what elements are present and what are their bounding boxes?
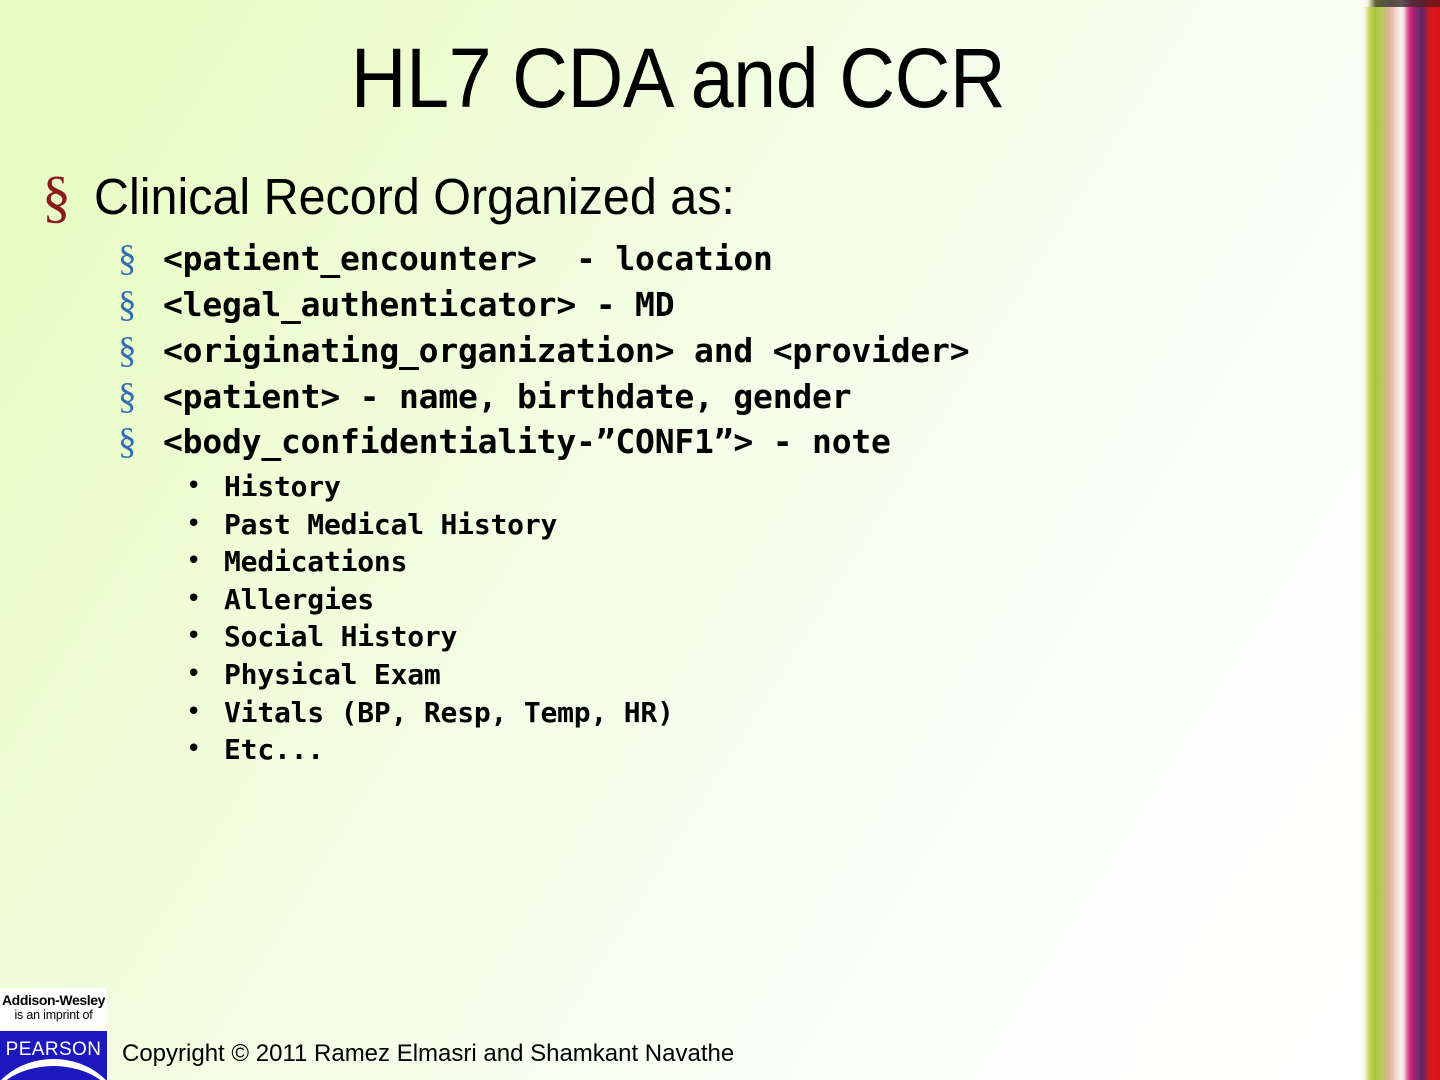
dot-bullet-icon: •: [186, 469, 224, 504]
section-bullet-icon: §: [118, 423, 163, 462]
bullet-level2-originating-organization: § <originating_organization> and <provid…: [0, 332, 1356, 371]
bullet-level2-label: <patient> - name, birthdate, gender: [163, 378, 851, 417]
section-bullet-icon: §: [118, 332, 163, 371]
slide-canvas: HL7 CDA and CCR § Clinical Record Organi…: [0, 0, 1440, 1080]
dot-bullet-icon: •: [186, 544, 224, 579]
section-bullet-icon: §: [118, 286, 163, 325]
copyright-notice: Copyright © 2011 Ramez Elmasri and Shamk…: [122, 1040, 734, 1069]
bullet-level3-label: Allergies: [224, 582, 374, 618]
imprint-tagline-label: is an imprint of: [0, 1008, 107, 1023]
bullet-level3-medications: • Medications: [0, 544, 1356, 580]
dot-bullet-icon: •: [186, 732, 224, 767]
bullet-level3-history: • History: [0, 469, 1356, 505]
bullet-level2-label: <patient_encounter> - location: [163, 240, 773, 279]
imprint-text: Addison-Wesley is an imprint of: [0, 992, 107, 1023]
dot-bullet-icon: •: [186, 582, 224, 617]
publisher-logo: Addison-Wesley is an imprint of PEARSON: [0, 988, 107, 1080]
stripe-texture: [1362, 0, 1440, 1080]
bullet-level2-legal-authenticator: § <legal_authenticator> - MD: [0, 286, 1356, 325]
bullet-level1-label: Clinical Record Organized as:: [94, 168, 735, 225]
bullet-level2-patient: § <patient> - name, birthdate, gender: [0, 378, 1356, 417]
section-bullet-icon: §: [118, 378, 163, 417]
pearson-swoosh-icon: [0, 1059, 107, 1080]
bullet-level3-label: History: [224, 469, 341, 505]
bullet-level3-label: Physical Exam: [224, 657, 441, 693]
bullet-level3-allergies: • Allergies: [0, 582, 1356, 618]
dot-bullet-icon: •: [186, 507, 224, 542]
slide-body: § Clinical Record Organized as: § <patie…: [0, 168, 1356, 770]
bullet-level2-body-confidentiality: § <body_confidentiality-”CONF1”> - note: [0, 423, 1356, 462]
pearson-wordmark: PEARSON: [0, 1039, 107, 1061]
bullet-level3-physical-exam: • Physical Exam: [0, 657, 1356, 693]
slide-title: HL7 CDA and CCR: [54, 36, 1302, 122]
bullet-level3-past-medical-history: • Past Medical History: [0, 507, 1356, 543]
dot-bullet-icon: •: [186, 619, 224, 654]
pearson-logo: PEARSON: [0, 1031, 107, 1080]
bullet-level3-etc: • Etc...: [0, 732, 1356, 768]
section-bullet-icon: §: [118, 240, 163, 279]
bullet-level2-label: <legal_authenticator> - MD: [163, 286, 674, 325]
bullet-level2-label: <body_confidentiality-”CONF1”> - note: [163, 423, 891, 462]
bullet-level3-label: Etc...: [224, 732, 324, 768]
section-bullet-icon: §: [42, 168, 94, 226]
bullet-level3-label: Vitals (BP, Resp, Temp, HR): [224, 695, 674, 731]
bullet-level2-patient-encounter: § <patient_encounter> - location: [0, 240, 1356, 279]
decorative-edge-stripe: [1362, 0, 1440, 1080]
bullet-level3-vitals: • Vitals (BP, Resp, Temp, HR): [0, 695, 1356, 731]
bullet-level3-label: Past Medical History: [224, 507, 557, 543]
slide-footer: Addison-Wesley is an imprint of PEARSON …: [0, 988, 1356, 1080]
dot-bullet-icon: •: [186, 695, 224, 730]
bullet-level3-label: Social History: [224, 619, 457, 655]
imprint-brand-label: Addison-Wesley: [0, 992, 107, 1008]
bullet-level3-label: Medications: [224, 544, 407, 580]
dot-bullet-icon: •: [186, 657, 224, 692]
stripe-top-cap: [1362, 0, 1440, 7]
bullet-level1-clinical-record: § Clinical Record Organized as:: [0, 168, 1356, 226]
bullet-level3-social-history: • Social History: [0, 619, 1356, 655]
bullet-level2-label: <originating_organization> and <provider…: [163, 332, 969, 371]
